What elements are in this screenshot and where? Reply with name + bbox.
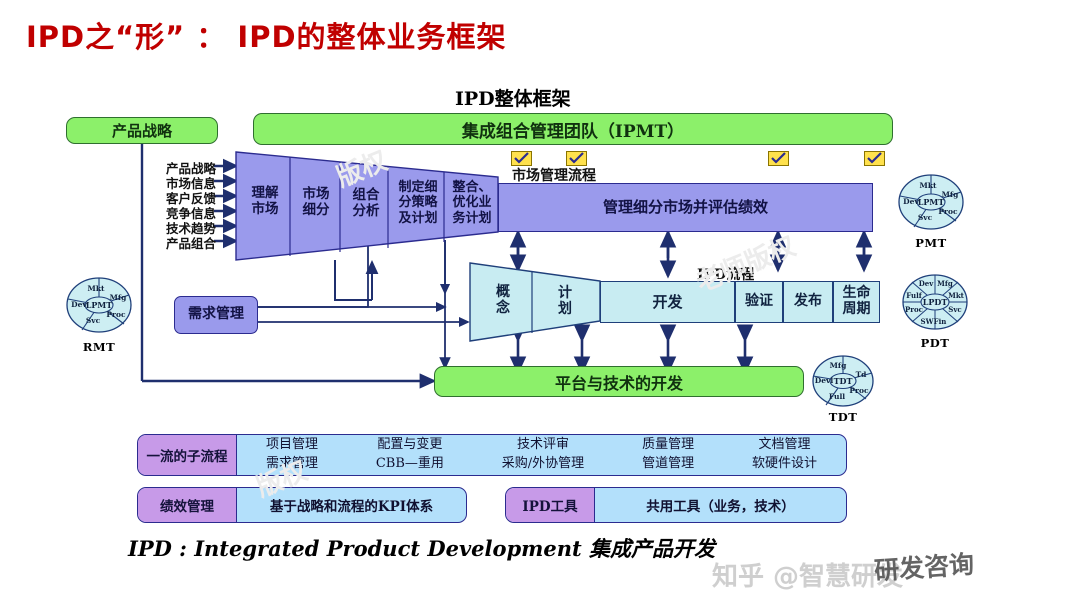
subprocess-cell: 项目管理 bbox=[266, 436, 318, 455]
input-label: 技术趋势 bbox=[148, 218, 216, 233]
team-wheel-rmt: LPMT Mkt Mfg Proc Svc Dev bbox=[66, 277, 132, 333]
ipd-stage-lifecycle-label: 生命 周期 bbox=[843, 286, 871, 317]
subprocess-column: 项目管理 需求管理 bbox=[266, 436, 318, 474]
product-strategy-box: 产品战略 bbox=[66, 117, 218, 144]
gate-checkbox-4[interactable] bbox=[864, 151, 885, 166]
svg-text:Td: Td bbox=[856, 370, 868, 379]
watermark-overlay: 研发咨询 bbox=[873, 545, 975, 588]
team-wheel-pmt: LPMT Mkt Mfg Proc Svc Dev bbox=[898, 174, 964, 230]
ipmt-label: 集成组合管理团队（IPMT） bbox=[462, 117, 684, 142]
svg-text:Mfg: Mfg bbox=[830, 361, 848, 370]
svg-text:Mfg: Mfg bbox=[942, 190, 960, 199]
platform-tech-label: 平台与技术的开发 bbox=[555, 370, 683, 394]
svg-text:LPMT: LPMT bbox=[918, 197, 944, 207]
market-stage-5: 整合、 优化业 务计划 bbox=[444, 180, 500, 226]
team-label-rmt: RMT bbox=[66, 340, 132, 354]
svg-text:LPMT: LPMT bbox=[86, 300, 112, 310]
market-stage-3: 组合 分析 bbox=[341, 188, 391, 220]
market-inputs-list: 产品战略 市场信息 客户反馈 竞争信息 技术趋势 产品组合 bbox=[148, 158, 216, 248]
gate-checkbox-1[interactable] bbox=[511, 151, 532, 166]
ipd-stage-verify: 验证 bbox=[735, 281, 783, 323]
svg-text:TDT: TDT bbox=[834, 376, 853, 386]
manage-segments-label: 管理细分市场并评估绩效 bbox=[603, 199, 768, 216]
market-stage-1: 理解 市场 bbox=[240, 186, 290, 218]
ipd-stage-release: 发布 bbox=[783, 281, 833, 323]
tools-table: IPD工具 共用工具（业务，技术） bbox=[505, 487, 847, 523]
subprocess-column: 文档管理 软硬件设计 bbox=[752, 436, 817, 474]
svg-text:Mkt: Mkt bbox=[88, 284, 105, 293]
ipd-stage-verify-label: 验证 bbox=[745, 294, 773, 310]
tools-value: 共用工具（业务，技术） bbox=[595, 488, 846, 522]
team-wheel-pdt: LPDT Dev Mfg Mkt Svc Fin SW Proc Fulf bbox=[902, 274, 968, 330]
manage-segments-bar: 管理细分市场并评估绩效 bbox=[498, 183, 873, 232]
input-label: 竞争信息 bbox=[148, 203, 216, 218]
input-label: 产品组合 bbox=[148, 233, 216, 248]
ipd-stage-develop: 开发 bbox=[600, 281, 735, 323]
kpi-key-label: 绩效管理 bbox=[160, 495, 214, 515]
subprocess-key-label: 一流的子流程 bbox=[147, 445, 228, 465]
subprocess-cell: 管道管理 bbox=[642, 455, 694, 474]
subprocess-key: 一流的子流程 bbox=[138, 435, 237, 475]
kpi-table: 绩效管理 基于战略和流程的KPI体系 bbox=[137, 487, 467, 523]
subprocess-table: 一流的子流程 项目管理 需求管理 配置与变更 CBB—重用 技术评审 采购/外协… bbox=[137, 434, 847, 476]
svg-text:Proc: Proc bbox=[849, 386, 869, 395]
product-strategy-label: 产品战略 bbox=[112, 120, 172, 141]
subprocess-cell: 采购/外协管理 bbox=[502, 455, 584, 474]
svg-text:Svc: Svc bbox=[918, 213, 933, 222]
svg-text:Mkt: Mkt bbox=[920, 181, 937, 190]
platform-tech-bar: 平台与技术的开发 bbox=[434, 366, 804, 397]
subprocess-column: 配置与变更 CBB—重用 bbox=[376, 436, 444, 474]
svg-text:Svc: Svc bbox=[86, 316, 101, 325]
subprocess-column: 质量管理 管道管理 bbox=[642, 436, 694, 474]
subprocess-cell: 技术评审 bbox=[517, 436, 569, 455]
demand-management-box: 需求管理 bbox=[174, 296, 258, 334]
ipd-stage-concept: 概 念 bbox=[475, 284, 531, 316]
subprocess-column: 技术评审 采购/外协管理 bbox=[502, 436, 584, 474]
team-label-pmt: PMT bbox=[898, 236, 964, 250]
team-label-tdt: TDT bbox=[812, 410, 874, 424]
gate-checkbox-3[interactable] bbox=[768, 151, 789, 166]
kpi-value: 基于战略和流程的KPI体系 bbox=[237, 488, 466, 522]
svg-text:Proc: Proc bbox=[905, 305, 923, 314]
svg-text:LPDT: LPDT bbox=[923, 297, 948, 307]
ipd-stage-develop-label: 开发 bbox=[652, 294, 682, 311]
input-label: 产品战略 bbox=[148, 158, 216, 173]
diagram-title: IPD整体框架 bbox=[455, 84, 655, 111]
input-label: 市场信息 bbox=[148, 173, 216, 188]
ipmt-bar: 集成组合管理团队（IPMT） bbox=[253, 113, 893, 145]
tools-key-label: IPD工具 bbox=[522, 495, 577, 515]
svg-text:Full: Full bbox=[829, 392, 845, 401]
slide-canvas: IPD之“形” ： IPD的整体业务框架 IPD整体框架 产品战略 集成组合管理… bbox=[0, 0, 1080, 608]
kpi-key: 绩效管理 bbox=[138, 488, 237, 522]
svg-text:Mkt: Mkt bbox=[948, 291, 965, 300]
svg-text:Proc: Proc bbox=[106, 310, 126, 319]
subprocess-cell: 需求管理 bbox=[266, 455, 318, 474]
input-label: 客户反馈 bbox=[148, 188, 216, 203]
subprocess-cell: 软硬件设计 bbox=[752, 455, 817, 474]
svg-text:Proc: Proc bbox=[938, 207, 958, 216]
svg-text:Svc: Svc bbox=[948, 305, 961, 314]
subprocess-body: 项目管理 需求管理 配置与变更 CBB—重用 技术评审 采购/外协管理 质量管理… bbox=[237, 435, 846, 475]
subprocess-cell: 文档管理 bbox=[758, 436, 810, 455]
svg-text:Fulf: Fulf bbox=[906, 291, 923, 300]
svg-text:Dev: Dev bbox=[71, 300, 87, 309]
ipd-stage-release-label: 发布 bbox=[794, 294, 822, 310]
ipd-stage-lifecycle: 生命 周期 bbox=[833, 281, 880, 323]
page-title: IPD之“形” ： IPD的整体业务框架 bbox=[26, 14, 507, 56]
subprocess-cell: 质量管理 bbox=[642, 436, 694, 455]
svg-text:Fin: Fin bbox=[934, 317, 947, 326]
svg-text:Dev: Dev bbox=[919, 279, 935, 288]
svg-text:Mfg: Mfg bbox=[937, 279, 953, 288]
team-wheel-tdt: TDT Mfg Td Proc Full Devl bbox=[812, 355, 874, 407]
team-label-pdt: PDT bbox=[902, 336, 968, 350]
subprocess-cell: CBB—重用 bbox=[376, 455, 444, 474]
caption: IPD : Integrated Product Development 集成产… bbox=[128, 533, 715, 563]
market-process-label: 市场管理流程 bbox=[512, 165, 596, 185]
subprocess-cell: 配置与变更 bbox=[377, 436, 442, 455]
market-stage-4: 制定细 分策略 及计划 bbox=[390, 180, 446, 226]
svg-text:SW: SW bbox=[921, 317, 934, 326]
svg-text:Dev: Dev bbox=[903, 197, 919, 206]
demand-management-label: 需求管理 bbox=[188, 307, 244, 323]
svg-text:Devl: Devl bbox=[815, 376, 834, 385]
gate-checkbox-2[interactable] bbox=[566, 151, 587, 166]
ipd-stage-plan: 计 划 bbox=[537, 285, 593, 317]
svg-text:Mfg: Mfg bbox=[110, 293, 128, 302]
tools-key: IPD工具 bbox=[506, 488, 595, 522]
market-stage-2: 市场 细分 bbox=[291, 187, 341, 219]
